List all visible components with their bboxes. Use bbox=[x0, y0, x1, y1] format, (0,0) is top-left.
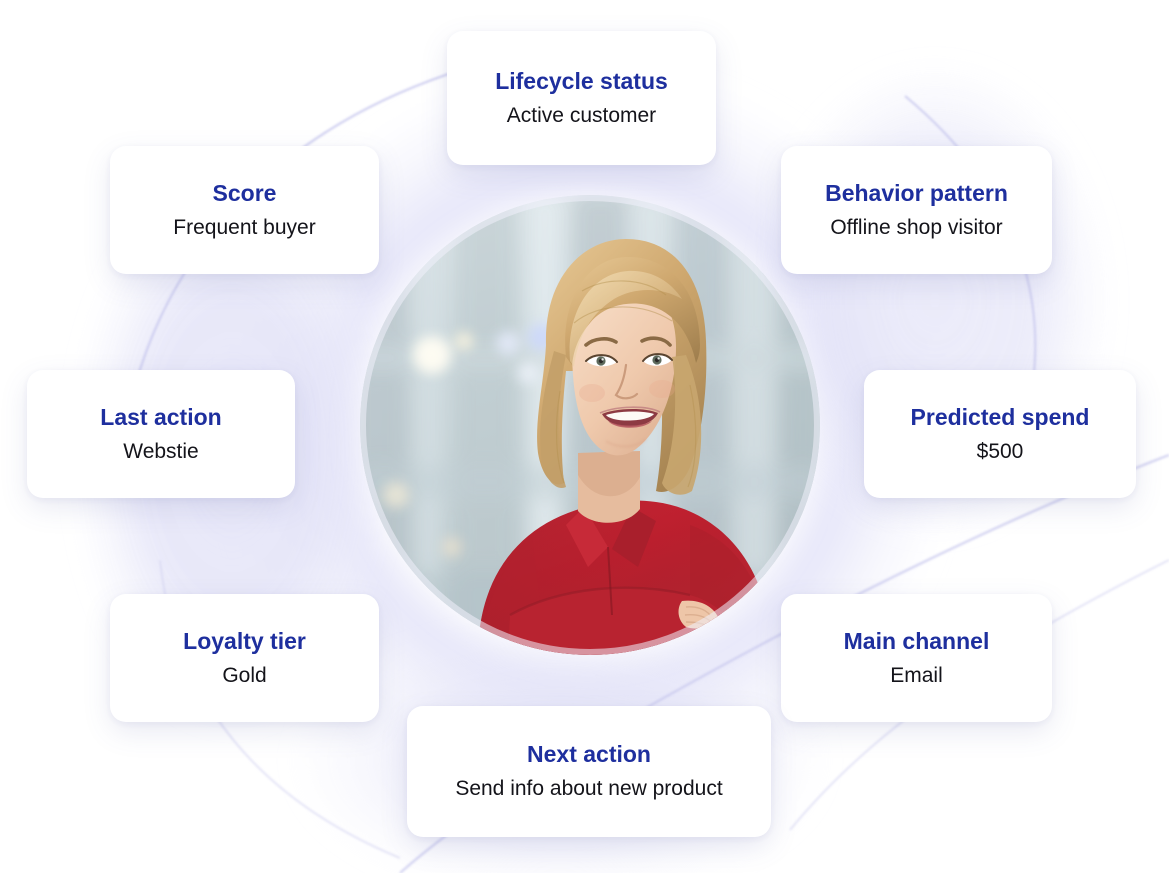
portrait-cheek-right bbox=[649, 380, 675, 398]
card-value: Webstie bbox=[123, 438, 198, 465]
card-title: Behavior pattern bbox=[825, 179, 1008, 208]
card-title: Score bbox=[213, 179, 277, 208]
card-value: Email bbox=[890, 662, 943, 689]
card-value: Active customer bbox=[507, 102, 656, 129]
card-title: Loyalty tier bbox=[183, 627, 306, 656]
customer-portrait-svg bbox=[360, 195, 820, 655]
card-value: Gold bbox=[222, 662, 266, 689]
card-next-action[interactable]: Next action Send info about new product bbox=[407, 706, 771, 837]
card-value: Offline shop visitor bbox=[830, 214, 1002, 241]
card-score[interactable]: Score Frequent buyer bbox=[110, 146, 379, 274]
card-predicted-spend[interactable]: Predicted spend $500 bbox=[864, 370, 1136, 498]
portrait-cheek-left bbox=[579, 384, 605, 402]
card-loyalty-tier[interactable]: Loyalty tier Gold bbox=[110, 594, 379, 722]
card-value: Frequent buyer bbox=[173, 214, 315, 241]
card-title: Last action bbox=[100, 403, 221, 432]
card-title: Next action bbox=[527, 740, 651, 769]
customer-profile-infographic: Lifecycle status Active customer Score F… bbox=[0, 0, 1169, 873]
card-behavior-pattern[interactable]: Behavior pattern Offline shop visitor bbox=[781, 146, 1052, 274]
card-title: Predicted spend bbox=[911, 403, 1090, 432]
card-last-action[interactable]: Last action Webstie bbox=[27, 370, 295, 498]
customer-portrait bbox=[360, 195, 820, 655]
card-value: Send info about new product bbox=[455, 775, 722, 802]
card-lifecycle-status[interactable]: Lifecycle status Active customer bbox=[447, 31, 716, 165]
card-title: Main channel bbox=[844, 627, 990, 656]
card-value: $500 bbox=[977, 438, 1024, 465]
card-main-channel[interactable]: Main channel Email bbox=[781, 594, 1052, 722]
card-title: Lifecycle status bbox=[495, 67, 668, 96]
